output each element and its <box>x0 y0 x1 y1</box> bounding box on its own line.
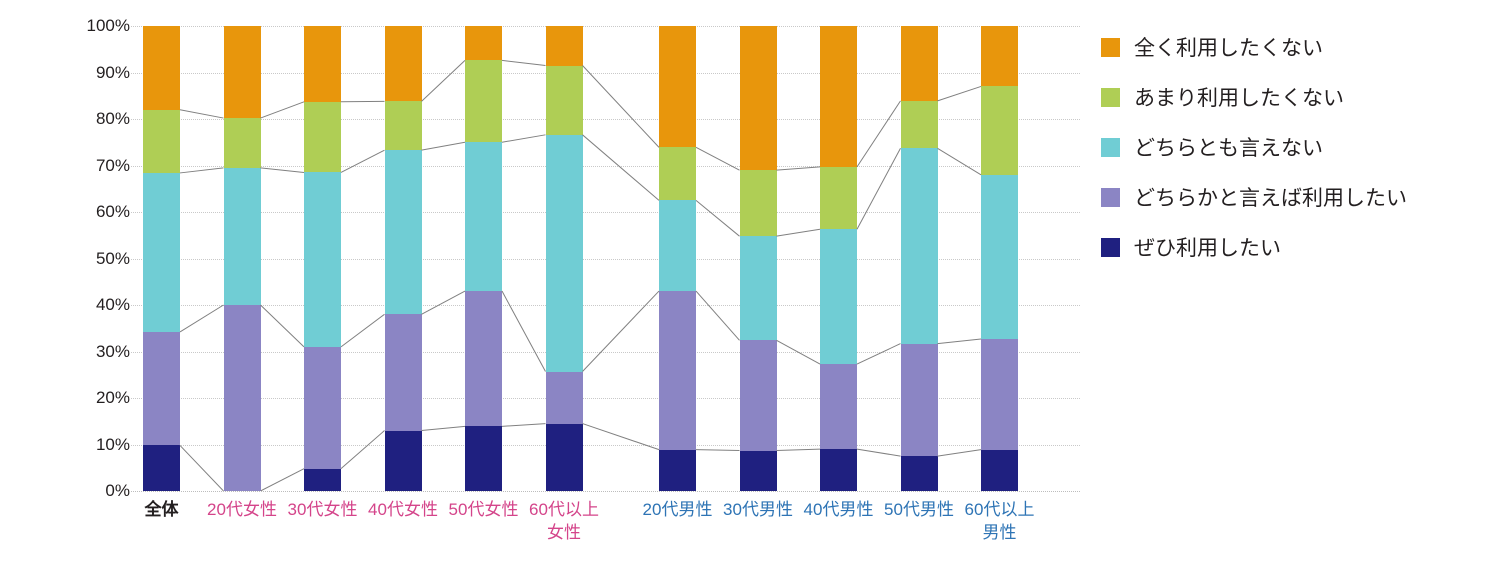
legend-item-0[interactable]: 全く利用したくない <box>1101 22 1491 72</box>
y-tick-label: 30% <box>60 342 130 362</box>
bar-segment <box>465 26 502 60</box>
legend-swatch-icon <box>1101 88 1120 107</box>
connector-line <box>857 101 901 167</box>
bar-7 <box>740 26 777 491</box>
legend-item-3[interactable]: どちらかと言えば利用したい <box>1101 172 1491 222</box>
y-tick-label: 80% <box>60 109 130 129</box>
legend-label: どちらかと言えば利用したい <box>1134 182 1407 212</box>
connector-line <box>422 60 466 101</box>
x-axis-label-8: 40代男性 <box>793 498 885 521</box>
x-axis-label-10: 60代以上 男性 <box>954 498 1046 544</box>
bar-segment <box>385 314 422 430</box>
connector-line <box>857 148 901 229</box>
bar-segment <box>981 86 1018 174</box>
bar-segment <box>546 66 583 135</box>
bar-segment <box>304 172 341 346</box>
bar-segment <box>820 167 857 229</box>
x-axis-labels: 全体20代女性30代女性40代女性50代女性60代以上 女性20代男性30代男性… <box>137 498 1080 560</box>
bar-segment <box>659 26 696 147</box>
bar-segment <box>546 424 583 491</box>
y-tick-label: 70% <box>60 156 130 176</box>
bar-2 <box>304 26 341 491</box>
bar-segment <box>304 26 341 102</box>
bar-segment <box>465 291 502 426</box>
bar-9 <box>901 26 938 491</box>
bar-segment <box>224 26 261 118</box>
connector-line <box>261 305 305 347</box>
bar-segment <box>659 200 696 291</box>
connector-line <box>422 291 466 314</box>
bar-segment <box>385 431 422 491</box>
bar-segment <box>385 26 422 101</box>
bar-segment <box>901 101 938 148</box>
bar-segment <box>143 26 180 110</box>
connector-line <box>696 450 740 451</box>
x-axis-label-7: 30代男性 <box>712 498 804 521</box>
connector-line <box>583 291 660 371</box>
bar-6 <box>659 26 696 491</box>
connector-line <box>777 449 821 450</box>
legend-swatch-icon <box>1101 138 1120 157</box>
bar-segment <box>224 118 261 168</box>
connector-line <box>341 431 385 469</box>
bar-segment <box>143 332 180 445</box>
connector-line <box>341 150 385 172</box>
bar-4 <box>465 26 502 491</box>
y-tick-label: 40% <box>60 295 130 315</box>
bar-segment <box>981 450 1018 491</box>
gridline-0 <box>129 491 1080 492</box>
chart-root: 100%90%80%70%60%50%40%30%20%10%0% 全体20代女… <box>0 0 1500 567</box>
bar-segment <box>659 147 696 200</box>
x-axis-label-3: 40代女性 <box>357 498 449 521</box>
connector-line <box>938 86 982 100</box>
bar-segment <box>465 142 502 291</box>
bar-3 <box>385 26 422 491</box>
connector-line <box>180 168 224 173</box>
bar-segment <box>901 148 938 343</box>
y-tick-label: 90% <box>60 63 130 83</box>
bar-segment <box>820 26 857 167</box>
x-axis-label-5: 60代以上 女性 <box>518 498 610 544</box>
bar-segment <box>224 305 261 491</box>
plot-area <box>137 26 1080 491</box>
bar-10 <box>981 26 1018 491</box>
bar-segment <box>546 135 583 372</box>
bar-segment <box>304 469 341 491</box>
bar-segment <box>385 101 422 150</box>
bar-segment <box>546 26 583 66</box>
bar-segment <box>901 344 938 457</box>
x-axis-label-9: 50代男性 <box>873 498 965 521</box>
y-tick-label: 60% <box>60 202 130 222</box>
bar-segment <box>143 173 180 332</box>
x-axis-label-0: 全体 <box>116 498 208 521</box>
connector-line <box>422 426 466 430</box>
connector-line <box>777 229 821 236</box>
x-axis-label-6: 20代男性 <box>632 498 724 521</box>
bar-segment <box>820 364 857 449</box>
connector-line <box>857 344 901 364</box>
connector-line <box>696 200 740 236</box>
bar-segment <box>981 26 1018 86</box>
y-tick-label: 100% <box>60 16 130 36</box>
legend-label: ぜひ利用したい <box>1134 232 1281 262</box>
connector-line <box>261 469 305 491</box>
connector-line <box>696 147 740 170</box>
connector-line <box>696 291 740 340</box>
y-tick-label: 50% <box>60 249 130 269</box>
bar-segment <box>820 229 857 364</box>
bar-1 <box>224 26 261 491</box>
bar-segment <box>981 175 1018 339</box>
connector-line <box>583 135 660 201</box>
connector-line <box>938 450 982 457</box>
connector-line <box>502 60 546 65</box>
legend-label: 全く利用したくない <box>1134 32 1323 62</box>
connector-line <box>261 168 305 173</box>
bar-segment <box>465 426 502 491</box>
bar-segment <box>143 110 180 173</box>
bar-segment <box>659 291 696 450</box>
legend: 全く利用したくないあまり利用したくないどちらとも言えないどちらかと言えば利用した… <box>1101 22 1491 272</box>
bar-segment <box>546 372 583 424</box>
bar-5 <box>546 26 583 491</box>
bar-segment <box>740 340 777 450</box>
bar-segment <box>385 150 422 314</box>
x-axis-label-2: 30代女性 <box>277 498 369 521</box>
bar-segment <box>224 168 261 305</box>
y-tick-label: 20% <box>60 388 130 408</box>
legend-item-4[interactable]: ぜひ利用したい <box>1101 222 1491 272</box>
legend-swatch-icon <box>1101 38 1120 57</box>
bar-segment <box>143 445 180 491</box>
legend-swatch-icon <box>1101 238 1120 257</box>
legend-swatch-icon <box>1101 188 1120 207</box>
bar-segment <box>901 26 938 101</box>
bar-segment <box>740 170 777 236</box>
bar-segment <box>740 451 777 491</box>
bar-segment <box>740 26 777 170</box>
connector-line <box>180 305 224 332</box>
x-axis-label-4: 50代女性 <box>438 498 530 521</box>
connector-line <box>180 445 224 491</box>
bar-segment <box>304 347 341 469</box>
bar-segment <box>981 339 1018 450</box>
connector-line <box>583 66 660 148</box>
connector-line <box>583 424 660 450</box>
bar-8 <box>820 26 857 491</box>
x-axis-label-1: 20代女性 <box>196 498 288 521</box>
legend-item-1[interactable]: あまり利用したくない <box>1101 72 1491 122</box>
connector-line <box>938 339 982 344</box>
bar-segment <box>304 102 341 173</box>
connector-line <box>777 167 821 170</box>
connector-line <box>502 291 546 371</box>
connector-line <box>180 110 224 118</box>
bar-segment <box>659 450 696 491</box>
bar-segment <box>465 60 502 142</box>
connector-line <box>502 424 546 427</box>
bar-segment <box>820 449 857 491</box>
connector-line <box>502 135 546 142</box>
legend-item-2[interactable]: どちらとも言えない <box>1101 122 1491 172</box>
bar-segment <box>901 456 938 491</box>
y-tick-label: 10% <box>60 435 130 455</box>
connector-line <box>261 102 305 118</box>
connector-line <box>938 148 982 175</box>
legend-label: どちらとも言えない <box>1134 132 1323 162</box>
legend-label: あまり利用したくない <box>1134 82 1344 112</box>
connector-line <box>422 142 466 150</box>
y-axis: 100%90%80%70%60%50%40%30%20%10%0% <box>60 26 130 491</box>
bar-0 <box>143 26 180 491</box>
connector-line <box>857 449 901 456</box>
bar-segment <box>740 236 777 340</box>
connector-line <box>341 314 385 347</box>
